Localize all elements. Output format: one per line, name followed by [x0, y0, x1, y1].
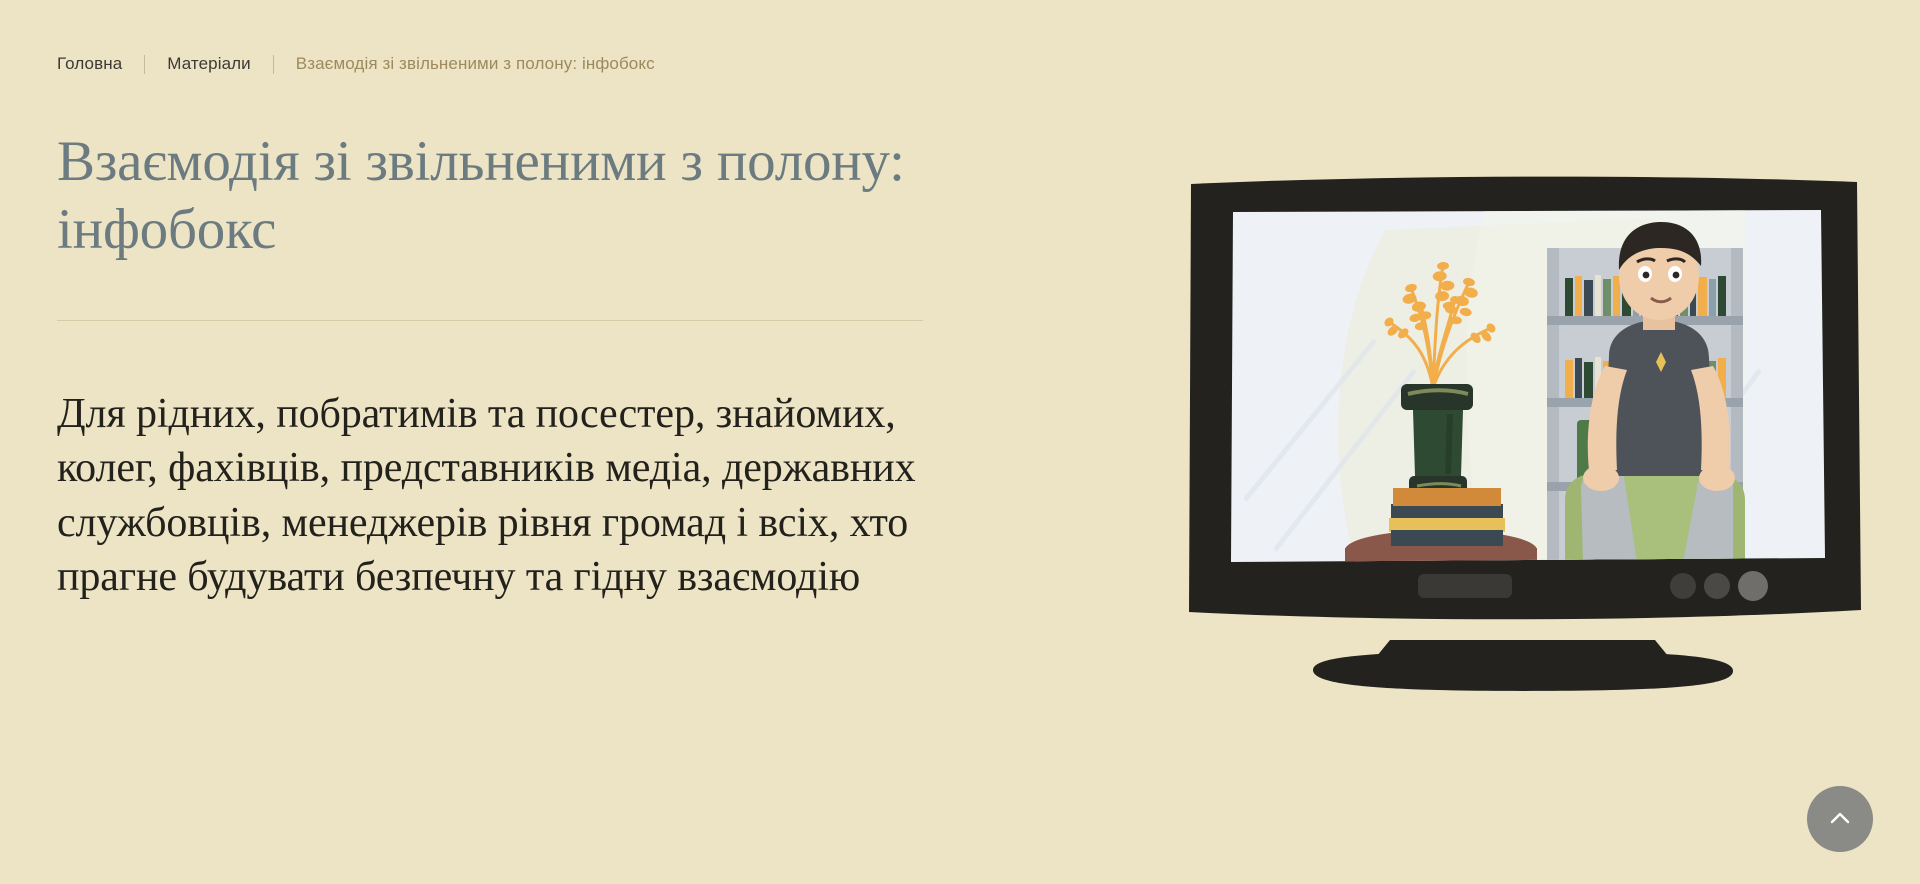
- lede-paragraph: Для рідних, побратимів та посестер, знай…: [57, 321, 937, 605]
- breadcrumb-separator: [273, 55, 274, 74]
- breadcrumb-item-materials[interactable]: Матеріали: [167, 54, 251, 74]
- page-title: Взаємодія зі звільненими з полону: інфоб…: [57, 128, 937, 264]
- illustration-tv-scene: [1185, 170, 1865, 715]
- tv-stand: [1313, 640, 1733, 691]
- book-stack: [1389, 488, 1505, 546]
- scroll-to-top-button[interactable]: [1807, 786, 1873, 852]
- breadcrumb-item-home[interactable]: Головна: [57, 54, 122, 74]
- tv-screen: [1225, 204, 1835, 570]
- breadcrumb-separator: [144, 55, 145, 74]
- content-column: Взаємодія зі звільненими з полону: інфоб…: [57, 128, 937, 605]
- breadcrumb: Головна Матеріали Взаємодія зі звільнени…: [57, 54, 655, 74]
- page-root: Головна Матеріали Взаємодія зі звільнени…: [0, 0, 1920, 884]
- chevron-up-icon: [1825, 804, 1855, 834]
- breadcrumb-item-current: Взаємодія зі звільненими з полону: інфоб…: [296, 54, 655, 74]
